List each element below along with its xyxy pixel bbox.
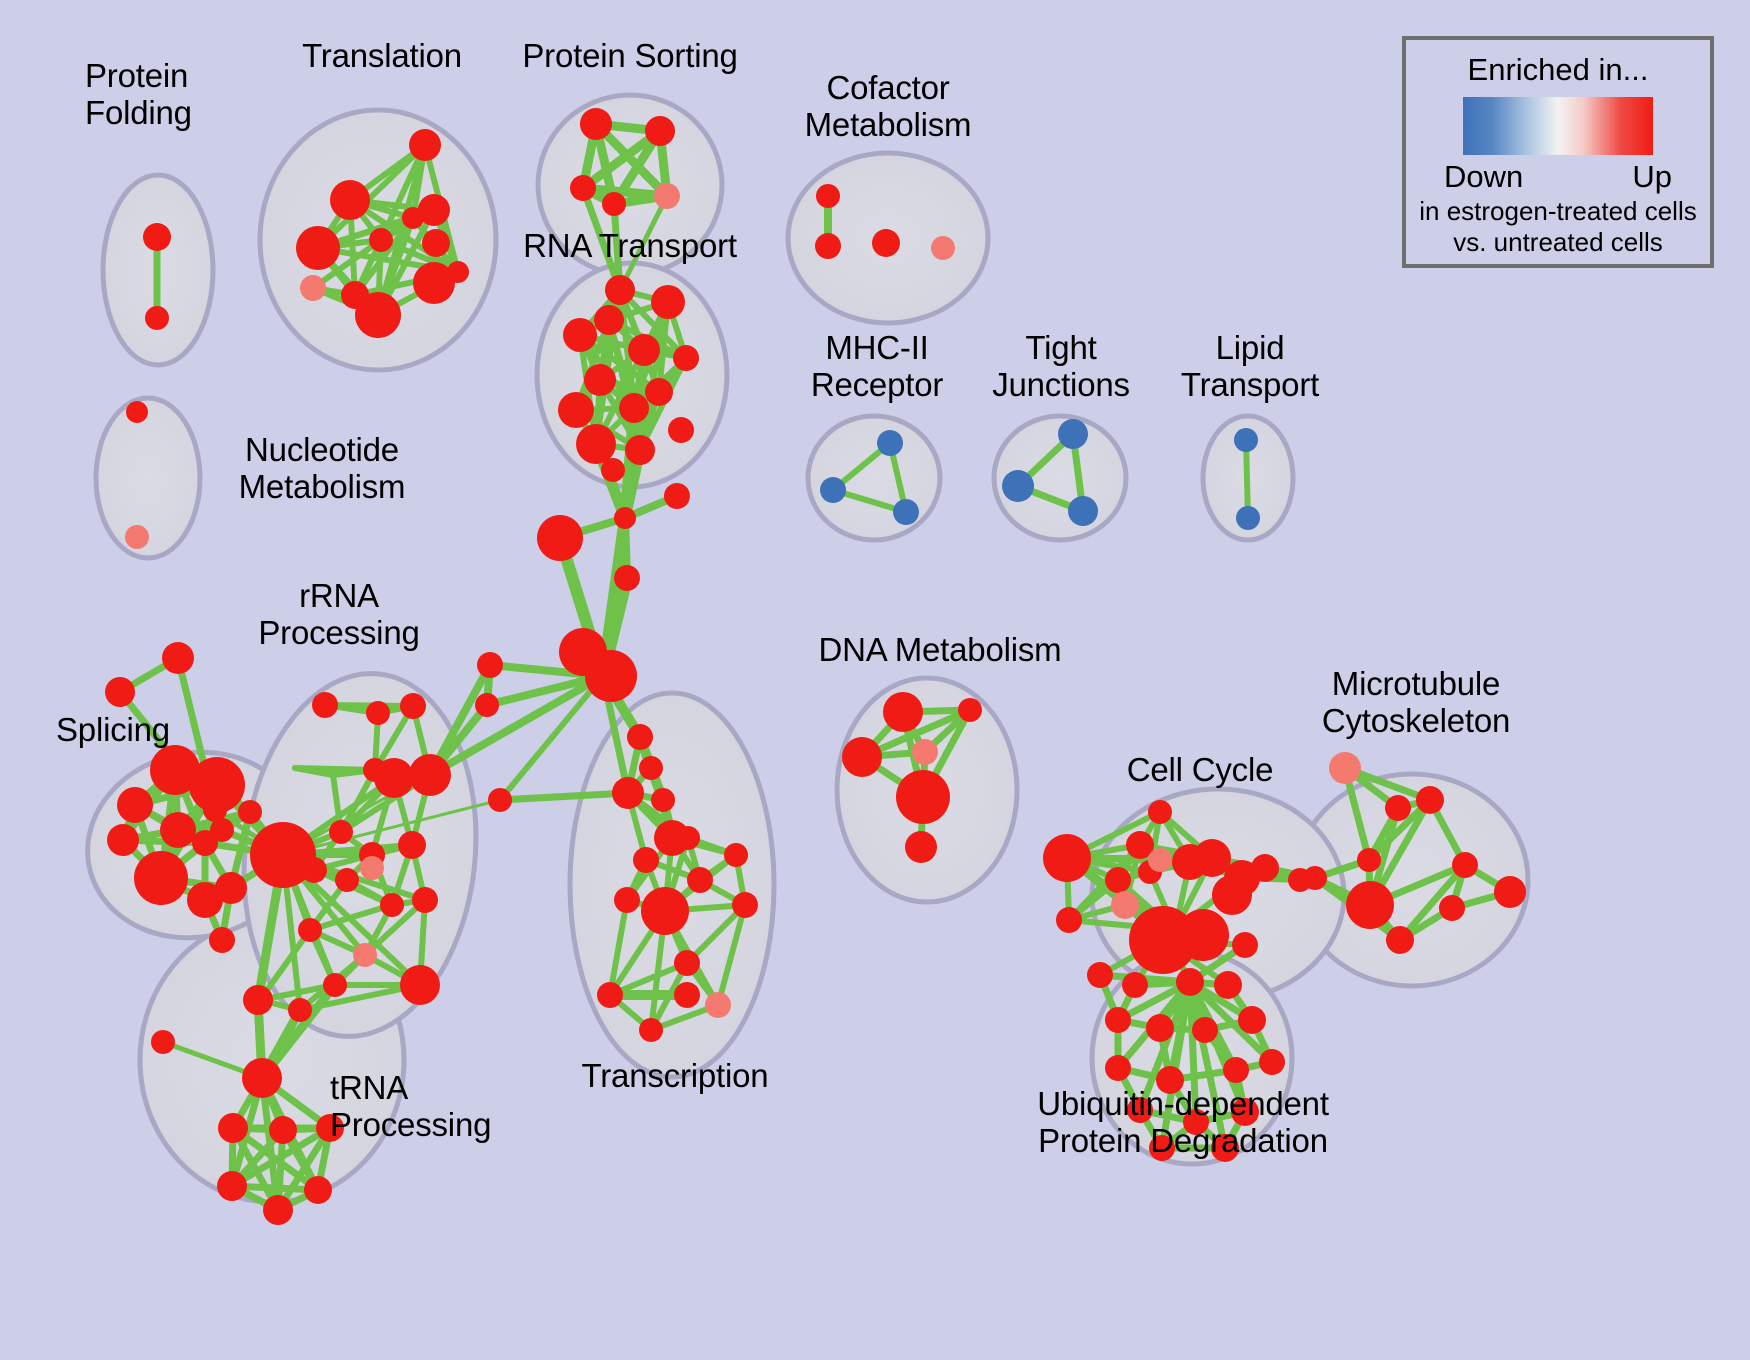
node-up-mid <box>125 525 149 549</box>
node-up <box>645 378 673 406</box>
node-up <box>409 754 451 796</box>
node-up <box>117 787 153 823</box>
hull-mhc-ii-receptor <box>808 416 940 540</box>
node-up <box>400 965 440 1005</box>
node-up <box>1087 962 1113 988</box>
node-up <box>687 867 713 893</box>
cluster-label-protein-folding: Protein Folding <box>85 58 275 132</box>
node-up-mid <box>300 275 326 301</box>
node-up <box>639 1018 663 1042</box>
node-up-mid <box>353 943 377 967</box>
legend-caption-line2: vs. untreated cells <box>1453 228 1663 257</box>
node-up <box>250 822 316 888</box>
node-up <box>645 116 675 146</box>
node-up <box>651 285 685 319</box>
node-up <box>1251 854 1279 882</box>
node-up <box>625 435 655 465</box>
node-up <box>192 830 218 856</box>
node-up <box>189 757 245 813</box>
node-up <box>238 800 262 824</box>
node-up <box>296 226 340 270</box>
node-up <box>816 184 840 208</box>
node-up <box>215 872 247 904</box>
node-up <box>218 1113 248 1143</box>
node-up <box>664 483 690 509</box>
node-up <box>1192 1017 1218 1043</box>
node-up <box>1056 907 1082 933</box>
node-up <box>1105 867 1131 893</box>
node-up <box>872 229 900 257</box>
cluster-label-rna-transport: RNA Transport <box>505 228 755 265</box>
node-up <box>732 892 758 918</box>
node-up <box>143 223 171 251</box>
node-up <box>107 824 139 856</box>
node-up <box>563 318 597 352</box>
node-up-mid <box>654 183 680 209</box>
node-up <box>269 1116 297 1144</box>
legend-low-label: Down <box>1444 159 1523 195</box>
cluster-label-ubiquitin-protein-degradation: Ubiquitin-dependent Protein Degradation <box>988 1086 1378 1160</box>
node-up <box>601 458 625 482</box>
node-up <box>422 229 450 257</box>
node-up <box>627 724 653 750</box>
node-up <box>209 927 235 953</box>
node-up <box>488 788 512 812</box>
cluster-label-trna-processing: tRNA Processing <box>330 1070 520 1144</box>
node-up <box>369 228 393 252</box>
node-down <box>1068 496 1098 526</box>
node-up <box>612 777 644 809</box>
node-up <box>312 692 338 718</box>
cluster-label-cofactor-metabolism: Cofactor Metabolism <box>788 70 988 144</box>
node-up <box>639 756 663 780</box>
node-up <box>374 758 414 798</box>
node-up <box>641 887 689 935</box>
cluster-label-nucleotide-metabolism: Nucleotide Metabolism <box>202 432 442 506</box>
cluster-label-cell-cycle: Cell Cycle <box>1105 752 1295 789</box>
node-up <box>298 918 322 942</box>
node-up <box>162 642 194 674</box>
node-up <box>896 770 950 824</box>
legend-title: Enriched in... <box>1468 52 1649 88</box>
node-up <box>366 701 390 725</box>
node-up <box>1232 932 1258 958</box>
node-down <box>893 499 919 525</box>
node-up <box>412 887 438 913</box>
node-up <box>1212 875 1252 915</box>
node-up <box>883 692 923 732</box>
node-up <box>815 233 841 259</box>
node-up <box>402 207 424 229</box>
node-up-mid <box>1148 848 1172 872</box>
node-up <box>614 507 636 529</box>
node-up <box>674 982 700 1008</box>
legend-caption-line1: in estrogen-treated cells <box>1419 197 1696 226</box>
node-up <box>605 275 635 305</box>
node-up <box>1105 1055 1131 1081</box>
cluster-label-tight-junctions: Tight Junctions <box>966 330 1156 404</box>
node-up <box>570 175 596 201</box>
cluster-label-lipid-transport: Lipid Transport <box>1155 330 1345 404</box>
node-up <box>288 998 312 1022</box>
node-up <box>1439 895 1465 921</box>
node-up <box>614 565 640 591</box>
legend-panel: Enriched in... Down Up in estrogen-treat… <box>1402 36 1714 268</box>
node-up <box>330 180 370 220</box>
node-up <box>628 334 660 366</box>
node-up <box>400 693 426 719</box>
node-down <box>1234 428 1258 452</box>
node-up <box>537 515 583 561</box>
node-up <box>724 843 748 867</box>
cluster-label-mhc-ii-receptor: MHC-II Receptor <box>782 330 972 404</box>
node-up <box>475 693 499 717</box>
node-up <box>905 831 937 863</box>
node-up-mid <box>1329 752 1361 784</box>
cluster-label-dna-metabolism: DNA Metabolism <box>810 632 1070 669</box>
node-up <box>1386 926 1414 954</box>
node-up <box>323 973 347 997</box>
node-up <box>355 292 401 338</box>
node-up <box>576 424 616 464</box>
node-up <box>304 1176 332 1204</box>
node-up <box>584 364 616 396</box>
node-up <box>126 401 148 423</box>
cluster-label-translation: Translation <box>282 38 482 75</box>
node-up-mid <box>912 739 938 765</box>
node-up-mid <box>705 992 731 1018</box>
node-up <box>1223 1057 1249 1083</box>
node-up <box>1452 852 1478 878</box>
node-up <box>1214 971 1242 999</box>
node-up <box>958 698 982 722</box>
node-up <box>676 826 700 850</box>
node-up <box>477 652 503 678</box>
node-up <box>594 305 624 335</box>
node-up <box>409 129 441 161</box>
legend-high-label: Up <box>1632 159 1672 195</box>
cluster-label-microtubule-cytoskeleton: Microtubule Cytoskeleton <box>1296 666 1536 740</box>
node-up <box>1416 786 1444 814</box>
node-up <box>1346 881 1394 929</box>
node-up <box>413 262 455 304</box>
node-up <box>1146 1014 1174 1042</box>
node-up-mid <box>1111 891 1139 919</box>
node-up-mid <box>931 236 955 260</box>
node-down <box>820 477 846 503</box>
node-up <box>329 820 353 844</box>
node-up <box>1148 800 1172 824</box>
node-up <box>633 847 659 873</box>
node-up <box>597 982 623 1008</box>
node-up <box>1105 1007 1131 1033</box>
node-up <box>842 737 882 777</box>
node-up <box>651 788 675 812</box>
node-up <box>243 985 273 1015</box>
legend-colorbar <box>1463 97 1653 155</box>
node-up <box>1357 848 1381 872</box>
node-up <box>398 831 426 859</box>
node-down <box>877 430 903 456</box>
node-up <box>263 1195 293 1225</box>
node-up <box>335 868 359 892</box>
node-up <box>619 393 649 423</box>
node-down <box>1236 506 1260 530</box>
node-up <box>1043 834 1091 882</box>
node-up <box>242 1058 282 1098</box>
node-up <box>105 677 135 707</box>
node-up <box>145 306 169 330</box>
node-up <box>134 851 188 905</box>
node-up <box>602 192 626 216</box>
cluster-label-protein-sorting: Protein Sorting <box>505 38 755 75</box>
node-up <box>614 887 640 913</box>
enrichment-map-figure: Protein Folding Translation Protein Sort… <box>0 0 1750 1360</box>
node-up <box>217 1171 247 1201</box>
node-up <box>1494 876 1526 908</box>
node-down <box>1058 419 1088 449</box>
node-up <box>160 812 196 848</box>
node-up <box>380 893 404 917</box>
node-up <box>1303 866 1327 890</box>
node-up <box>585 650 637 702</box>
node-up <box>1176 968 1204 996</box>
node-up <box>1177 909 1229 961</box>
node-up <box>668 417 694 443</box>
cluster-label-rrna-processing: rRNA Processing <box>244 578 434 652</box>
node-up-mid <box>360 856 384 880</box>
node-up <box>1122 972 1148 998</box>
node-up <box>673 345 699 371</box>
cluster-label-transcription: Transcription <box>565 1058 785 1095</box>
node-up <box>580 108 612 140</box>
node-up <box>1259 1049 1285 1075</box>
node-up <box>674 950 700 976</box>
node-down <box>1002 470 1034 502</box>
node-up <box>558 392 594 428</box>
node-up <box>1238 1006 1266 1034</box>
node-up <box>151 1030 175 1054</box>
node-up <box>1385 795 1411 821</box>
cluster-label-splicing: Splicing <box>56 712 236 749</box>
